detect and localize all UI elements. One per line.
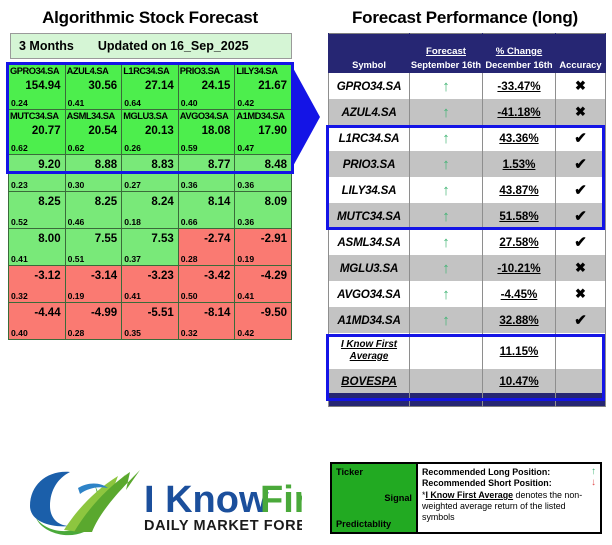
forecast-cell-predictability: 0.26 xyxy=(124,144,141,153)
forecast-cell-predictability: 0.19 xyxy=(237,255,254,264)
footer-cell xyxy=(556,393,606,407)
performance-row[interactable]: MUTC34.SA↑51.58%✔ xyxy=(329,203,606,229)
legend-box: Ticker Signal Predictablity Recommended … xyxy=(330,462,602,534)
forecast-cell[interactable]: LILY34.SA21.670.42 xyxy=(235,65,292,110)
accuracy-cross-icon: ✖ xyxy=(556,281,606,307)
forecast-cell-value: 8.83 xyxy=(122,159,178,172)
legend-right-column: Recommended Long Position: ↑ Recommended… xyxy=(418,464,600,532)
forecast-cell[interactable]: L1RC34.SA27.140.64 xyxy=(122,65,179,110)
accuracy-check-icon: ✔ xyxy=(556,151,606,177)
signal-up-arrow-icon: ↑ xyxy=(410,73,483,99)
forecast-cell-symbol: MUTC34.SA xyxy=(9,110,65,121)
forecast-cell-value: 18.08 xyxy=(179,125,235,138)
forecast-cell[interactable]: 7.530.37 xyxy=(122,229,179,266)
average-row: I Know FirstAverage11.15% xyxy=(329,333,606,369)
forecast-grid-row: MUTC34.SA20.770.62ASML34.SA20.540.62MGLU… xyxy=(9,110,292,155)
accuracy-check-icon: ✔ xyxy=(556,203,606,229)
forecast-cell-predictability: 0.35 xyxy=(124,329,141,338)
signal-up-arrow-icon: ↑ xyxy=(410,307,483,333)
accuracy-cross-icon: ✖ xyxy=(556,99,606,125)
legend-left-column: Ticker Signal Predictablity xyxy=(332,464,418,532)
forecast-cell-value: -3.23 xyxy=(122,270,178,283)
legend-long-row: Recommended Long Position: ↑ xyxy=(422,467,596,478)
forecast-cell[interactable]: -2.740.28 xyxy=(178,229,235,266)
average-label: I Know FirstAverage xyxy=(329,333,410,369)
benchmark-signal-empty xyxy=(410,369,483,393)
accuracy-check-icon: ✔ xyxy=(556,177,606,203)
logo-word-two: First xyxy=(260,479,302,521)
legend-note: *I Know First Average denotes the non-we… xyxy=(422,490,596,523)
forecast-cell-value: 7.55 xyxy=(66,233,122,246)
forecast-cell-value: -2.74 xyxy=(179,233,235,246)
forecast-grid-row: GPRO34.SA154.940.24AZUL4.SA30.560.41L1RC… xyxy=(9,65,292,110)
forecast-cell-value: -9.50 xyxy=(235,307,291,320)
forecast-cell[interactable]: AZUL4.SA30.560.41 xyxy=(65,65,122,110)
forecast-cell-symbol: AZUL4.SA xyxy=(66,65,122,76)
forecast-cell-symbol: LILY34.SA xyxy=(235,65,291,76)
legend-down-arrow-icon: ↓ xyxy=(591,478,596,489)
performance-change: 43.36% xyxy=(483,125,556,151)
accuracy-check-icon: ✔ xyxy=(556,307,606,333)
col-forecast-top: Forecast xyxy=(410,46,482,57)
forecast-cell[interactable]: -9.500.42 xyxy=(235,303,292,340)
forecast-cell[interactable]: 8.250.46 xyxy=(65,192,122,229)
col-change-sub: December 16th xyxy=(483,59,555,70)
forecast-cell-predictability: 0.62 xyxy=(11,144,28,153)
performance-row[interactable]: MGLU3.SA↑-10.21%✖ xyxy=(329,255,606,281)
accuracy-cross-icon: ✖ xyxy=(556,73,606,99)
forecast-cell[interactable]: -4.990.28 xyxy=(65,303,122,340)
col-symbol-label: Symbol xyxy=(329,59,409,70)
table-footer-bar xyxy=(329,393,606,407)
performance-change: 43.87% xyxy=(483,177,556,203)
performance-symbol: ASML34.SA xyxy=(329,229,410,255)
signal-up-arrow-icon: ↑ xyxy=(410,177,483,203)
forecast-cell-symbol: PRIO3.SA xyxy=(179,65,235,76)
performance-row[interactable]: LILY34.SA↑43.87%✔ xyxy=(329,177,606,203)
performance-symbol: LILY34.SA xyxy=(329,177,410,203)
forecast-cell[interactable]: 8.090.36 xyxy=(235,192,292,229)
forecast-horizon: 3 Months xyxy=(19,39,74,53)
page-title-performance: Forecast Performance (long) xyxy=(318,8,612,28)
accuracy-check-icon: ✔ xyxy=(556,125,606,151)
footer-cell xyxy=(483,393,556,407)
col-forecast: Forecast September 16th xyxy=(410,34,483,74)
forecast-cell-value: 30.56 xyxy=(66,80,122,93)
forecast-cell[interactable]: GPRO34.SA154.940.24 xyxy=(9,65,66,110)
forecast-cell-predictability: 0.51 xyxy=(68,255,85,264)
forecast-cell-predictability: 0.18 xyxy=(124,218,141,227)
forecast-cell[interactable]: -3.230.41 xyxy=(122,266,179,303)
forecast-cell-predictability: 0.42 xyxy=(237,329,254,338)
forecast-cell-symbol: AVGO34.SA xyxy=(179,110,235,121)
signal-up-arrow-icon: ↑ xyxy=(410,99,483,125)
forecast-cell-predictability: 0.37 xyxy=(124,255,141,264)
forecast-grid-row: 8.000.417.550.517.530.37-2.740.28-2.910.… xyxy=(9,229,292,266)
performance-row[interactable]: PRIO3.SA↑1.53%✔ xyxy=(329,151,606,177)
performance-table: Symbol Forecast September 16th % Change … xyxy=(328,33,606,407)
forecast-cell-value: 9.20 xyxy=(9,159,65,172)
logo-word-one: I Know xyxy=(144,479,269,521)
average-change: 11.15% xyxy=(483,333,556,369)
accuracy-cross-icon: ✖ xyxy=(556,255,606,281)
forecast-cell-value: 154.94 xyxy=(9,80,65,93)
legend-signal-label: Signal xyxy=(336,493,412,503)
benchmark-row: BOVESPA10.47% xyxy=(329,369,606,393)
forecast-cell-value: -4.99 xyxy=(66,307,122,320)
forecast-cell-predictability: 0.24 xyxy=(11,99,28,108)
performance-panel: Forecast Performance (long) Symbol Forec… xyxy=(318,0,612,545)
forecast-cell[interactable]: -3.120.32 xyxy=(9,266,66,303)
performance-change: -41.18% xyxy=(483,99,556,125)
forecast-cell-predictability: 0.64 xyxy=(124,99,141,108)
average-label-line1: I Know First xyxy=(341,339,397,350)
forecast-cell-value: 27.14 xyxy=(122,80,178,93)
performance-change: 1.53% xyxy=(483,151,556,177)
forecast-cell-predictability: 0.30 xyxy=(68,181,85,190)
forecast-cell-value: 8.77 xyxy=(179,159,235,172)
legend-up-arrow-icon: ↑ xyxy=(591,467,596,478)
forecast-cell[interactable]: 9.200.23 xyxy=(9,155,66,192)
forecast-cell-value: 20.54 xyxy=(66,125,122,138)
forecast-cell[interactable]: 8.140.66 xyxy=(178,192,235,229)
forecast-updated: Updated on 16_Sep_2025 xyxy=(98,39,249,53)
forecast-cell[interactable]: -3.420.50 xyxy=(178,266,235,303)
legend-note-underlined: I Know First Average xyxy=(425,490,513,500)
legend-predictability-label: Predictablity xyxy=(336,519,412,529)
iknowfirst-logo: I Know First DAILY MARKET FORECAST xyxy=(22,462,302,538)
signal-up-arrow-icon: ↑ xyxy=(410,281,483,307)
performance-symbol: AVGO34.SA xyxy=(329,281,410,307)
forecast-cell[interactable]: -2.910.19 xyxy=(235,229,292,266)
signal-up-arrow-icon: ↑ xyxy=(410,255,483,281)
forecast-cell[interactable]: A1MD34.SA17.900.47 xyxy=(235,110,292,155)
signal-up-arrow-icon: ↑ xyxy=(410,203,483,229)
forecast-cell-value: -8.14 xyxy=(179,307,235,320)
forecast-cell-symbol: ASML34.SA xyxy=(66,110,122,121)
forecast-cell-predictability: 0.32 xyxy=(11,292,28,301)
forecast-cell[interactable]: -4.290.41 xyxy=(235,266,292,303)
forecast-cell[interactable]: 8.250.52 xyxy=(9,192,66,229)
forecast-cell[interactable]: MUTC34.SA20.770.62 xyxy=(9,110,66,155)
performance-change: 51.58% xyxy=(483,203,556,229)
col-accuracy-label: Accuracy xyxy=(556,59,605,70)
forecast-cell-value: 20.77 xyxy=(9,125,65,138)
forecast-cell-value: 8.00 xyxy=(9,233,65,246)
forecast-cell-predictability: 0.41 xyxy=(124,292,141,301)
forecast-cell[interactable]: -4.440.40 xyxy=(9,303,66,340)
performance-row[interactable]: AZUL4.SA↑-41.18%✖ xyxy=(329,99,606,125)
forecast-cell-symbol: L1RC34.SA xyxy=(122,65,178,76)
forecast-cell-predictability: 0.40 xyxy=(11,329,28,338)
footer-cell xyxy=(410,393,483,407)
forecast-cell-predictability: 0.41 xyxy=(68,99,85,108)
legend-ticker-label: Ticker xyxy=(336,467,412,477)
col-change: % Change December 16th xyxy=(483,34,556,74)
forecast-cell-predictability: 0.66 xyxy=(181,218,198,227)
forecast-cell-predictability: 0.36 xyxy=(237,181,254,190)
forecast-header-strip: 3 Months Updated on 16_Sep_2025 xyxy=(10,33,292,59)
forecast-cell-value: -4.44 xyxy=(9,307,65,320)
benchmark-accuracy-empty xyxy=(556,369,606,393)
forecast-cell-predictability: 0.52 xyxy=(11,218,28,227)
forecast-cell-predictability: 0.41 xyxy=(11,255,28,264)
logo-tagline: DAILY MARKET FORECAST xyxy=(144,518,302,534)
forecast-cell[interactable]: 8.000.41 xyxy=(9,229,66,266)
forecast-cell-value: 8.25 xyxy=(9,196,65,209)
forecast-cell-value: 8.88 xyxy=(66,159,122,172)
forecast-cell[interactable]: 8.770.36 xyxy=(178,155,235,192)
performance-symbol: GPRO34.SA xyxy=(329,73,410,99)
forecast-cell-value: 17.90 xyxy=(235,125,291,138)
forecast-cell-predictability: 0.40 xyxy=(181,99,198,108)
forecast-cell[interactable]: 7.550.51 xyxy=(65,229,122,266)
signal-up-arrow-icon: ↑ xyxy=(410,151,483,177)
performance-change: 27.58% xyxy=(483,229,556,255)
forecast-cell-value: 8.24 xyxy=(122,196,178,209)
performance-change: -10.21% xyxy=(483,255,556,281)
page-title-forecast: Algorithmic Stock Forecast xyxy=(0,8,300,28)
forecast-cell-predictability: 0.62 xyxy=(68,144,85,153)
forecast-cell-value: 8.14 xyxy=(179,196,235,209)
forecast-cell-value: -2.91 xyxy=(235,233,291,246)
forecast-cell-predictability: 0.41 xyxy=(237,292,254,301)
forecast-grid-row: 9.200.238.880.308.830.278.770.368.480.36 xyxy=(9,155,292,192)
legend-short-row: Recommended Short Position: ↓ xyxy=(422,478,596,489)
forecast-cell[interactable]: ASML34.SA20.540.62 xyxy=(65,110,122,155)
col-symbol: Symbol xyxy=(329,34,410,74)
performance-change: 32.88% xyxy=(483,307,556,333)
forecast-cell-value: -5.51 xyxy=(122,307,178,320)
performance-symbol: MGLU3.SA xyxy=(329,255,410,281)
performance-header-row: Symbol Forecast September 16th % Change … xyxy=(329,34,606,74)
performance-symbol: A1MD34.SA xyxy=(329,307,410,333)
forecast-grid-row: -3.120.32-3.140.19-3.230.41-3.420.50-4.2… xyxy=(9,266,292,303)
performance-symbol: PRIO3.SA xyxy=(329,151,410,177)
average-label-line2: Average xyxy=(350,351,389,362)
legend-short-label: Recommended Short Position: xyxy=(422,478,552,489)
forecast-cell-predictability: 0.36 xyxy=(237,218,254,227)
forecast-cell-predictability: 0.27 xyxy=(124,181,141,190)
forecast-cell-symbol: A1MD34.SA xyxy=(235,110,291,121)
forecast-cell-predictability: 0.42 xyxy=(237,99,254,108)
forecast-cell-predictability: 0.19 xyxy=(68,292,85,301)
performance-symbol: L1RC34.SA xyxy=(329,125,410,151)
forecast-cell-predictability: 0.28 xyxy=(181,255,198,264)
performance-symbol: MUTC34.SA xyxy=(329,203,410,229)
forecast-cell-predictability: 0.23 xyxy=(11,181,28,190)
forecast-cell-value: 8.48 xyxy=(235,159,291,172)
forecast-cell-predictability: 0.59 xyxy=(181,144,198,153)
forecast-cell[interactable]: PRIO3.SA24.150.40 xyxy=(178,65,235,110)
forecast-cell-predictability: 0.36 xyxy=(181,181,198,190)
forecast-cell[interactable]: AVGO34.SA18.080.59 xyxy=(178,110,235,155)
col-accuracy: Accuracy xyxy=(556,34,606,74)
performance-change: -4.45% xyxy=(483,281,556,307)
forecast-cell[interactable]: 8.880.30 xyxy=(65,155,122,192)
accuracy-check-icon: ✔ xyxy=(556,229,606,255)
forecast-cell-predictability: 0.47 xyxy=(237,144,254,153)
forecast-cell-value: -3.14 xyxy=(66,270,122,283)
forecast-cell-predictability: 0.46 xyxy=(68,218,85,227)
col-forecast-sub: September 16th xyxy=(410,59,482,70)
forecast-cell-value: 24.15 xyxy=(179,80,235,93)
forecast-cell-value: 21.67 xyxy=(235,80,291,93)
forecast-cell-predictability: 0.32 xyxy=(181,329,198,338)
forecast-cell-value: 20.13 xyxy=(122,125,178,138)
performance-symbol: AZUL4.SA xyxy=(329,99,410,125)
forecast-panel: Algorithmic Stock Forecast 3 Months Upda… xyxy=(0,0,300,545)
forecast-cell-symbol: GPRO34.SA xyxy=(9,65,65,76)
forecast-cell[interactable]: 8.480.36 xyxy=(235,155,292,192)
forecast-cell[interactable]: -3.140.19 xyxy=(65,266,122,303)
forecast-cell-value: -3.42 xyxy=(179,270,235,283)
signal-up-arrow-icon: ↑ xyxy=(410,229,483,255)
forecast-cell[interactable]: MGLU3.SA20.130.26 xyxy=(122,110,179,155)
forecast-cell-symbol: MGLU3.SA xyxy=(122,110,178,121)
forecast-cell[interactable]: 8.240.18 xyxy=(122,192,179,229)
average-signal-empty xyxy=(410,333,483,369)
average-accuracy-empty xyxy=(556,333,606,369)
flow-arrow-icon xyxy=(288,62,322,172)
forecast-cell-value: 8.25 xyxy=(66,196,122,209)
forecast-cell[interactable]: -8.140.32 xyxy=(178,303,235,340)
performance-row[interactable]: GPRO34.SA↑-33.47%✖ xyxy=(329,73,606,99)
performance-change: -33.47% xyxy=(483,73,556,99)
forecast-cell-value: -4.29 xyxy=(235,270,291,283)
legend-long-label: Recommended Long Position: xyxy=(422,467,550,478)
forecast-grid: GPRO34.SA154.940.24AZUL4.SA30.560.41L1RC… xyxy=(8,64,292,340)
forecast-cell[interactable]: -5.510.35 xyxy=(122,303,179,340)
forecast-cell-value: -3.12 xyxy=(9,270,65,283)
signal-up-arrow-icon: ↑ xyxy=(410,125,483,151)
performance-row[interactable]: AVGO34.SA↑-4.45%✖ xyxy=(329,281,606,307)
forecast-grid-row: 8.250.528.250.468.240.188.140.668.090.36 xyxy=(9,192,292,229)
benchmark-label: BOVESPA xyxy=(329,369,410,393)
forecast-cell-predictability: 0.50 xyxy=(181,292,198,301)
performance-row[interactable]: L1RC34.SA↑43.36%✔ xyxy=(329,125,606,151)
performance-row[interactable]: A1MD34.SA↑32.88%✔ xyxy=(329,307,606,333)
benchmark-change: 10.47% xyxy=(483,369,556,393)
forecast-cell-predictability: 0.28 xyxy=(68,329,85,338)
footer-cell xyxy=(329,393,410,407)
performance-row[interactable]: ASML34.SA↑27.58%✔ xyxy=(329,229,606,255)
forecast-grid-row: -4.440.40-4.990.28-5.510.35-8.140.32-9.5… xyxy=(9,303,292,340)
forecast-cell[interactable]: 8.830.27 xyxy=(122,155,179,192)
forecast-cell-value: 8.09 xyxy=(235,196,291,209)
forecast-cell-value: 7.53 xyxy=(122,233,178,246)
col-change-top: % Change xyxy=(483,46,555,57)
